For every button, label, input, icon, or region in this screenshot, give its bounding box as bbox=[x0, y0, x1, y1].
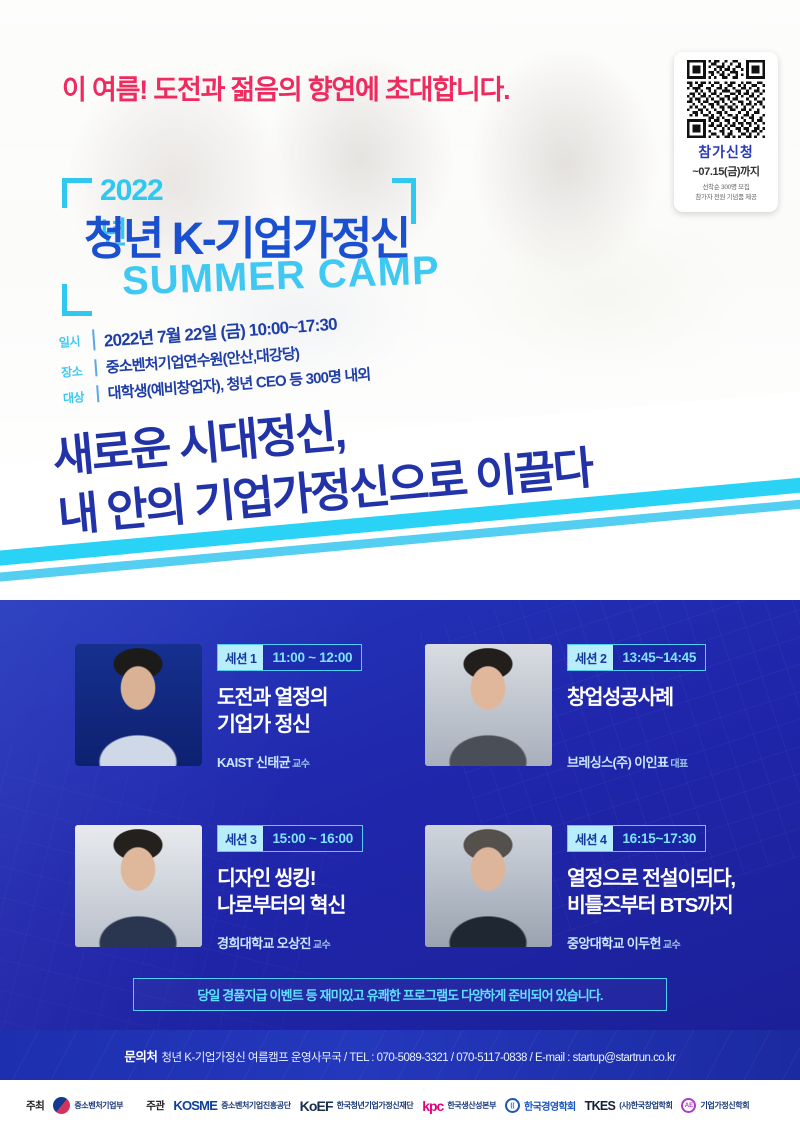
session-body: 세션 3 15:00 ~ 16:00 디자인 씽킹! 나로부터의 혁신 경희대학… bbox=[217, 825, 420, 920]
qr-apply-label: 참가신청 bbox=[681, 142, 771, 162]
session-time: 15:00 ~ 16:00 bbox=[263, 826, 362, 851]
speaker-name: 경희대학교 오상진 bbox=[217, 936, 311, 951]
koef-mark: KoEF bbox=[300, 1098, 333, 1114]
speaker-photo bbox=[425, 825, 552, 947]
info-divider bbox=[92, 329, 96, 350]
speaker-photo bbox=[425, 644, 552, 766]
tkes-mark: TKES bbox=[585, 1099, 616, 1113]
qr-apply-card[interactable]: 참가신청 ~07.15(금)까지 선착순 300명 모집 참가자 전원 기념품 … bbox=[674, 52, 778, 212]
contact-bar: 문의처청년 K-기업가정신 여름캠프 운영사무국 / TEL : 070-508… bbox=[0, 1030, 800, 1080]
speaker-role: 교수 bbox=[313, 940, 330, 951]
logo-name: 한국경영학회 bbox=[524, 1098, 576, 1113]
session-title-line-1: 도전과 열정의 bbox=[217, 684, 420, 711]
logo-kosme: KOSME 중소벤처기업진흥공단 bbox=[173, 1098, 290, 1113]
speaker-role: 교수 bbox=[292, 759, 309, 770]
logo-tkes: TKES (사)한국창업학회 bbox=[585, 1099, 673, 1113]
qr-code-icon bbox=[687, 60, 765, 138]
contact-text: 문의처청년 K-기업가정신 여름캠프 운영사무국 / TEL : 070-508… bbox=[124, 1046, 675, 1065]
session-list: 세션 1 11:00 ~ 12:00 도전과 열정의 기업가 정신 KAIST … bbox=[0, 600, 800, 1030]
session-badge-row: 세션 1 11:00 ~ 12:00 bbox=[217, 644, 362, 671]
session-time: 16:15~17:30 bbox=[613, 826, 705, 851]
speaker-name: 브레싱스(주) 이인표 bbox=[567, 755, 668, 770]
info-label-date: 일시 bbox=[58, 328, 93, 351]
info-divider bbox=[96, 385, 99, 402]
qr-note-line-1: 선착순 300명 모집 bbox=[702, 184, 749, 191]
sessions-section: 세션 1 11:00 ~ 12:00 도전과 열정의 기업가 정신 KAIST … bbox=[0, 600, 800, 1030]
info-divider bbox=[94, 359, 97, 376]
qr-note-line-2: 참가자 전원 기념품 제공 bbox=[695, 194, 756, 201]
session-title-line-2: 비틀즈부터 BTS까지 bbox=[567, 892, 770, 919]
session-badge-row: 세션 3 15:00 ~ 16:00 bbox=[217, 825, 363, 852]
session-number-badge: 세션 1 bbox=[218, 645, 263, 670]
session-card[interactable]: 세션 1 11:00 ~ 12:00 도전과 열정의 기업가 정신 KAIST … bbox=[75, 644, 420, 804]
speaker-photo bbox=[75, 644, 202, 766]
speaker-photo bbox=[75, 825, 202, 947]
info-label-venue: 장소 bbox=[60, 357, 95, 380]
taegeuk-icon bbox=[53, 1097, 70, 1114]
logo-ministry-of-smes: 중소벤처기업부 bbox=[53, 1097, 123, 1114]
ae-icon: AE bbox=[681, 1098, 696, 1113]
program-note-banner: 당일 경품지급 이벤트 등 재미있고 유쾌한 프로그램도 다양하게 준비되어 있… bbox=[133, 978, 667, 1011]
logo-koef: KoEF 한국청년기업가정신재단 bbox=[300, 1098, 414, 1114]
session-number-badge: 세션 2 bbox=[568, 645, 613, 670]
session-title: 도전과 열정의 기업가 정신 bbox=[217, 684, 420, 739]
session-body: 세션 1 11:00 ~ 12:00 도전과 열정의 기업가 정신 KAIST … bbox=[217, 644, 420, 739]
session-badge-row: 세션 2 13:45~14:45 bbox=[567, 644, 706, 671]
kosme-mark: KOSME bbox=[173, 1098, 217, 1113]
qr-deadline: ~07.15(금)까지 bbox=[681, 163, 771, 179]
footer-logos: 주최 중소벤처기업부 주관 KOSME 중소벤처기업진흥공단 KoEF 한국청년… bbox=[0, 1080, 800, 1131]
session-title: 디자인 씽킹! 나로부터의 혁신 bbox=[217, 865, 420, 920]
logo-name: 기업가정신학회 bbox=[700, 1100, 749, 1111]
session-title-line-1: 창업성공사례 bbox=[567, 684, 770, 711]
logo-name: 한국청년기업가정신재단 bbox=[337, 1100, 414, 1111]
session-speaker: 경희대학교 오상진교수 bbox=[217, 933, 330, 952]
contact-label: 문의처 bbox=[124, 1050, 157, 1064]
speaker-name: KAIST 신태균 bbox=[217, 755, 290, 770]
session-title-line-1: 열정으로 전설이되다, bbox=[567, 865, 770, 892]
session-title: 창업성공사례 bbox=[567, 684, 770, 711]
logo-name: 중소벤처기업부 bbox=[74, 1100, 123, 1111]
event-poster: 이 여름! 도전과 젊음의 향연에 초대합니다. 2022년 청년 K-기업가정… bbox=[0, 0, 800, 1131]
session-time: 11:00 ~ 12:00 bbox=[263, 645, 361, 670]
session-card[interactable]: 세션 2 13:45~14:45 창업성공사례 브레싱스(주) 이인표대표 bbox=[425, 644, 770, 804]
bracket-bottom-left-icon bbox=[62, 284, 92, 316]
session-speaker: KAIST 신태균교수 bbox=[217, 752, 309, 771]
session-time: 13:45~14:45 bbox=[613, 645, 705, 670]
poster-headline: 이 여름! 도전과 젊음의 향연에 초대합니다. bbox=[62, 68, 509, 107]
session-speaker: 브레싱스(주) 이인표대표 bbox=[567, 752, 688, 771]
logo-korean-academy-of-business: (( 한국경영학회 bbox=[505, 1098, 576, 1113]
logo-kpc: kpc 한국생산성본부 bbox=[422, 1098, 496, 1114]
session-speaker: 중앙대학교 이두헌교수 bbox=[567, 933, 680, 952]
speaker-role: 교수 bbox=[663, 940, 680, 951]
kpc-mark: kpc bbox=[422, 1098, 443, 1114]
speaker-role: 대표 bbox=[670, 759, 687, 770]
organizer-label: 주관 bbox=[146, 1098, 164, 1113]
session-title-line-2: 나로부터의 혁신 bbox=[217, 892, 420, 919]
session-badge-row: 세션 4 16:15~17:30 bbox=[567, 825, 706, 852]
logo-name: 중소벤처기업진흥공단 bbox=[221, 1100, 291, 1111]
info-label-audience: 대상 bbox=[62, 383, 97, 406]
session-title: 열정으로 전설이되다, 비틀즈부터 BTS까지 bbox=[567, 865, 770, 920]
session-number-badge: 세션 4 bbox=[568, 826, 613, 851]
ring-icon: (( bbox=[505, 1098, 520, 1113]
session-card[interactable]: 세션 4 16:15~17:30 열정으로 전설이되다, 비틀즈부터 BTS까지… bbox=[425, 825, 770, 985]
session-title-line-1: 디자인 씽킹! bbox=[217, 865, 420, 892]
session-body: 세션 2 13:45~14:45 창업성공사례 브레싱스(주) 이인표대표 bbox=[567, 644, 770, 711]
qr-note: 선착순 300명 모집 참가자 전원 기념품 제공 bbox=[681, 183, 771, 203]
contact-details: 청년 K-기업가정신 여름캠프 운영사무국 / TEL : 070-5089-3… bbox=[161, 1052, 675, 1064]
host-label: 주최 bbox=[26, 1098, 44, 1113]
logo-academy-of-entrepreneurship: AE 기업가정신학회 bbox=[681, 1098, 749, 1113]
session-card[interactable]: 세션 3 15:00 ~ 16:00 디자인 씽킹! 나로부터의 혁신 경희대학… bbox=[75, 825, 420, 985]
speaker-name: 중앙대학교 이두헌 bbox=[567, 936, 661, 951]
logo-name: (사)한국창업학회 bbox=[619, 1100, 672, 1111]
session-body: 세션 4 16:15~17:30 열정으로 전설이되다, 비틀즈부터 BTS까지… bbox=[567, 825, 770, 920]
session-title-line-2: 기업가 정신 bbox=[217, 711, 420, 738]
logo-name: 한국생산성본부 bbox=[447, 1100, 496, 1111]
session-number-badge: 세션 3 bbox=[218, 826, 263, 851]
